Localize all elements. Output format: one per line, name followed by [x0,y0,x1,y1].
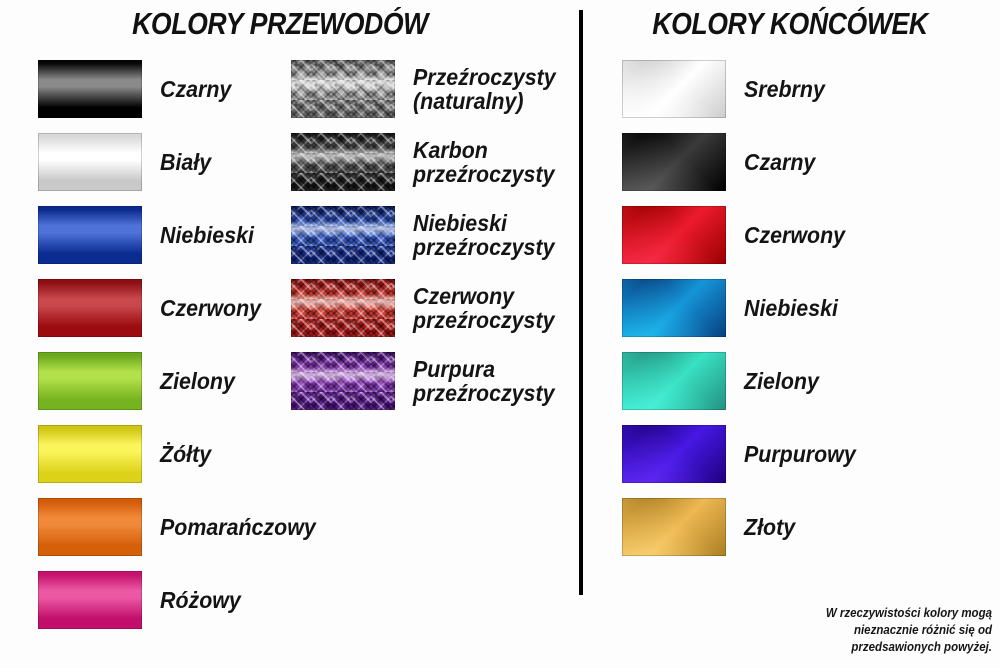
color-row: Karbon przeźroczysty [291,133,565,191]
color-swatch-silver [622,60,726,118]
color-swatch-black [622,133,726,191]
color-row: Czerwony przeźroczysty [291,279,565,337]
color-label: Purpura przeźroczysty [413,357,554,405]
color-label: Czarny [160,77,231,101]
color-row: Niebieski przeźroczysty [291,206,565,264]
color-row: Czarny [622,133,821,191]
color-row: Pomarańczowy [38,498,327,556]
color-label: Czerwony [160,296,261,320]
color-label: Zielony [744,369,819,393]
color-label: Czarny [744,150,815,174]
color-swatch-green [38,352,142,410]
color-row: Purpurowy [622,425,864,483]
color-swatch-pink [38,571,142,629]
color-swatch-purple-clear [291,352,395,410]
color-swatch-gold [622,498,726,556]
color-swatch-red [38,279,142,337]
weave-highlight [291,294,395,309]
color-label: Niebieski przeźroczysty [413,211,554,259]
color-label: Karbon przeźroczysty [413,138,554,186]
color-row: Różowy [38,571,247,629]
color-swatch-purple [622,425,726,483]
disclaimer-text: W rzeczywistości kolory mogą nieznacznie… [762,605,992,656]
page-title-connectors: KOLORY KOŃCÓWEK [609,6,970,42]
color-swatch-white [38,133,142,191]
color-label: Różowy [160,588,241,612]
page-title-wires: KOLORY PRZEWODÓW [39,6,521,42]
vertical-divider [579,10,583,595]
color-swatch-clear-natural [291,60,395,118]
color-label: Żółty [160,442,211,466]
color-row: Żółty [38,425,215,483]
color-row: Zielony [38,352,241,410]
color-row: Złoty [622,498,799,556]
color-label: Pomarańczowy [160,515,316,539]
color-label: Niebieski [160,223,254,247]
color-label: Czerwony [744,223,845,247]
color-swatch-blue-clear [291,206,395,264]
color-row: Purpura przeźroczysty [291,352,565,410]
color-row: Niebieski [38,206,261,264]
color-row: Czarny [38,60,237,118]
color-label: Czerwony przeźroczysty [413,284,554,332]
color-label: Srebrny [744,77,825,101]
color-row: Srebrny [622,60,831,118]
weave-highlight [291,221,395,236]
weave-highlight [291,148,395,163]
color-label: Przeźroczysty (naturalny) [413,65,556,113]
color-label: Zielony [160,369,235,393]
color-row: Czerwony [622,206,853,264]
color-label: Złoty [744,515,795,539]
color-swatch-red [622,206,726,264]
color-chart-page: KOLORY PRZEWODÓW KOLORY KOŃCÓWEK CzarnyB… [0,0,1000,668]
color-swatch-yellow [38,425,142,483]
color-row: Czerwony [38,279,269,337]
color-row: Zielony [622,352,825,410]
color-label: Niebieski [744,296,838,320]
color-row: Przeźroczysty (naturalny) [291,60,566,118]
color-swatch-carbon-clear [291,133,395,191]
color-swatch-blue [622,279,726,337]
color-swatch-blue [38,206,142,264]
color-label: Purpurowy [744,442,856,466]
color-swatch-green [622,352,726,410]
color-swatch-black [38,60,142,118]
color-swatch-orange [38,498,142,556]
weave-highlight [291,367,395,382]
color-label: Biały [160,150,211,174]
weave-highlight [291,75,395,90]
color-swatch-red-clear [291,279,395,337]
color-row: Niebieski [622,279,845,337]
color-row: Biały [38,133,215,191]
